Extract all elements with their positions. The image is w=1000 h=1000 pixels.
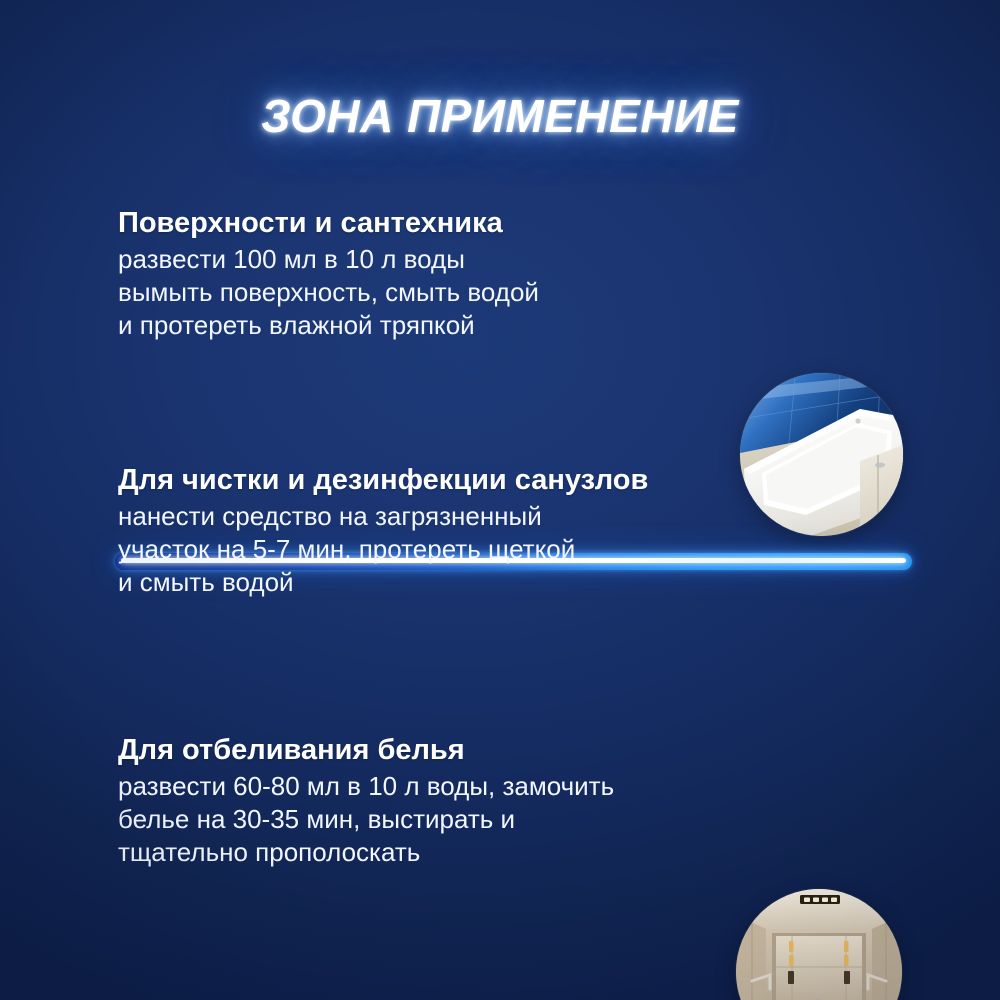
section-body-line: участок на 5-7 мин, протереть щеткой bbox=[118, 533, 718, 566]
section-body-line: и протереть влажной тряпкой bbox=[118, 309, 718, 342]
section-surfaces-and-plumbing: Поверхности и сантехника развести 100 мл… bbox=[0, 185, 1000, 415]
section-body-line: нанести средство на загрязненный bbox=[118, 500, 718, 533]
section-heading: Для отбеливания белья bbox=[118, 734, 718, 768]
section-body-line: и смыть водой bbox=[118, 566, 718, 599]
infographic-page: ЗОНА ПРИМЕНЕНИЕ Поверхности и сантехника… bbox=[0, 0, 1000, 1000]
section-body: развести 100 мл в 10 л воды вымыть повер… bbox=[118, 243, 718, 342]
section-text-block: Для чистки и дезинфекции санузлов нанест… bbox=[118, 464, 718, 599]
section-body-line: белье на 30-35 мин, выстирать и bbox=[118, 803, 718, 836]
section-heading: Поверхности и сантехника bbox=[118, 207, 718, 241]
section-body-line: тщательно прополоскать bbox=[118, 836, 718, 869]
section-body: развести 60-80 мл в 10 л воды, замочить … bbox=[118, 770, 718, 869]
section-text-block: Для отбеливания белья развести 60-80 мл … bbox=[118, 734, 718, 869]
section-text-block: Поверхности и сантехника развести 100 мл… bbox=[118, 207, 718, 342]
section-laundry-whitening: Для отбеливания белья развести 60-80 мл … bbox=[0, 712, 1000, 942]
section-body-line: вымыть поверхность, смыть водой bbox=[118, 276, 718, 309]
section-bathroom-cleaning-disinfection: Для чистки и дезинфекции санузлов нанест… bbox=[0, 442, 1000, 672]
section-body-line: развести 100 мл в 10 л воды bbox=[118, 243, 718, 276]
page-title: ЗОНА ПРИМЕНЕНИЕ bbox=[261, 89, 739, 143]
section-body: нанести средство на загрязненный участок… bbox=[118, 500, 718, 599]
page-title-container: ЗОНА ПРИМЕНЕНИЕ bbox=[0, 58, 1000, 174]
section-heading: Для чистки и дезинфекции санузлов bbox=[118, 464, 718, 498]
section-body-line: развести 60-80 мл в 10 л воды, замочить bbox=[118, 770, 718, 803]
